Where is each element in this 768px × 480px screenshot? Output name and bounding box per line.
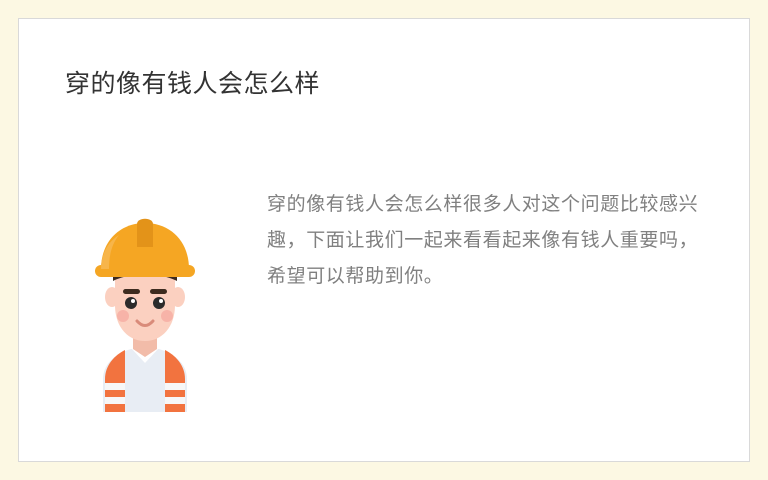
page-title: 穿的像有钱人会怎么样 <box>65 67 320 101</box>
page-background: 穿的像有钱人会怎么样 <box>0 0 768 480</box>
article-body: 穿的像有钱人会怎么样很多人对这个问题比较感兴趣，下面让我们一起来看看起来像有钱人… <box>267 187 703 295</box>
article-content: 穿的像有钱人会怎么样很多人对这个问题比较感兴趣，下面让我们一起来看看起来像有钱人… <box>65 187 703 412</box>
article-card: 穿的像有钱人会怎么样 <box>18 18 750 462</box>
construction-worker-avatar <box>65 187 225 412</box>
